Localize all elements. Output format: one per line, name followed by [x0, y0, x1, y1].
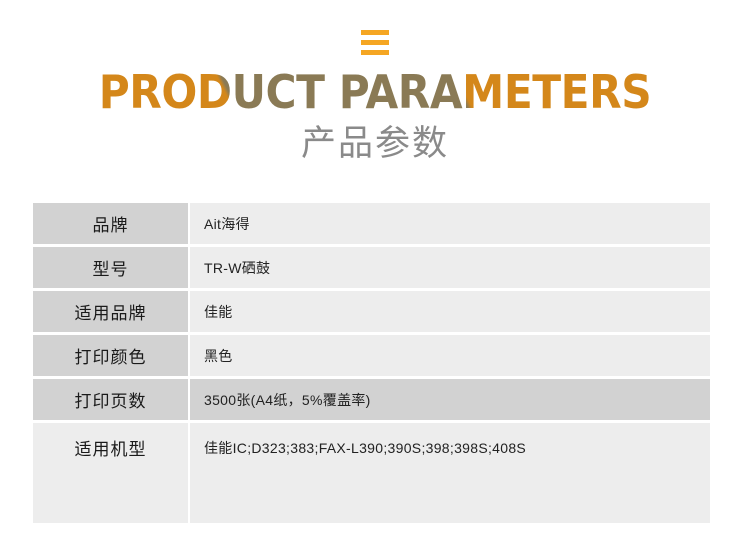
table-row: 适用机型 佳能IC;D323;383;FAX-L390;390S;398;398… — [33, 423, 710, 523]
param-value: 黑色 — [190, 335, 710, 376]
param-label: 品牌 — [33, 203, 188, 244]
param-value: 3500张(A4纸，5%覆盖率) — [190, 379, 710, 420]
param-label: 适用品牌 — [33, 291, 188, 332]
table-row: 打印页数 3500张(A4纸，5%覆盖率) — [33, 379, 710, 420]
param-value: TR-W硒鼓 — [190, 247, 710, 288]
table-row: 打印颜色 黑色 — [33, 335, 710, 376]
page-title-chinese: 产品参数 — [0, 125, 750, 164]
hamburger-bar-2 — [361, 40, 389, 45]
param-value: 佳能 — [190, 291, 710, 332]
product-parameters-table: 品牌 Ait海得 型号 TR-W硒鼓 适用品牌 佳能 打印颜色 黑色 打印页数 … — [33, 203, 710, 523]
page-title-english: PRODUCT PARAMETERS — [30, 69, 720, 117]
param-label: 打印页数 — [33, 379, 188, 420]
page-header: PRODUCT PARAMETERS 产品参数 — [0, 0, 750, 164]
param-label: 适用机型 — [33, 423, 188, 523]
table-row: 型号 TR-W硒鼓 — [33, 247, 710, 288]
param-value: 佳能IC;D323;383;FAX-L390;390S;398;398S;408… — [190, 423, 710, 523]
table-row: 适用品牌 佳能 — [33, 291, 710, 332]
param-value: Ait海得 — [190, 203, 710, 244]
hamburger-bar-1 — [361, 30, 389, 35]
table-row: 品牌 Ait海得 — [33, 203, 710, 244]
param-label: 型号 — [33, 247, 188, 288]
param-label: 打印颜色 — [33, 335, 188, 376]
hamburger-bar-3 — [361, 50, 389, 55]
hamburger-menu-icon[interactable] — [361, 30, 389, 55]
